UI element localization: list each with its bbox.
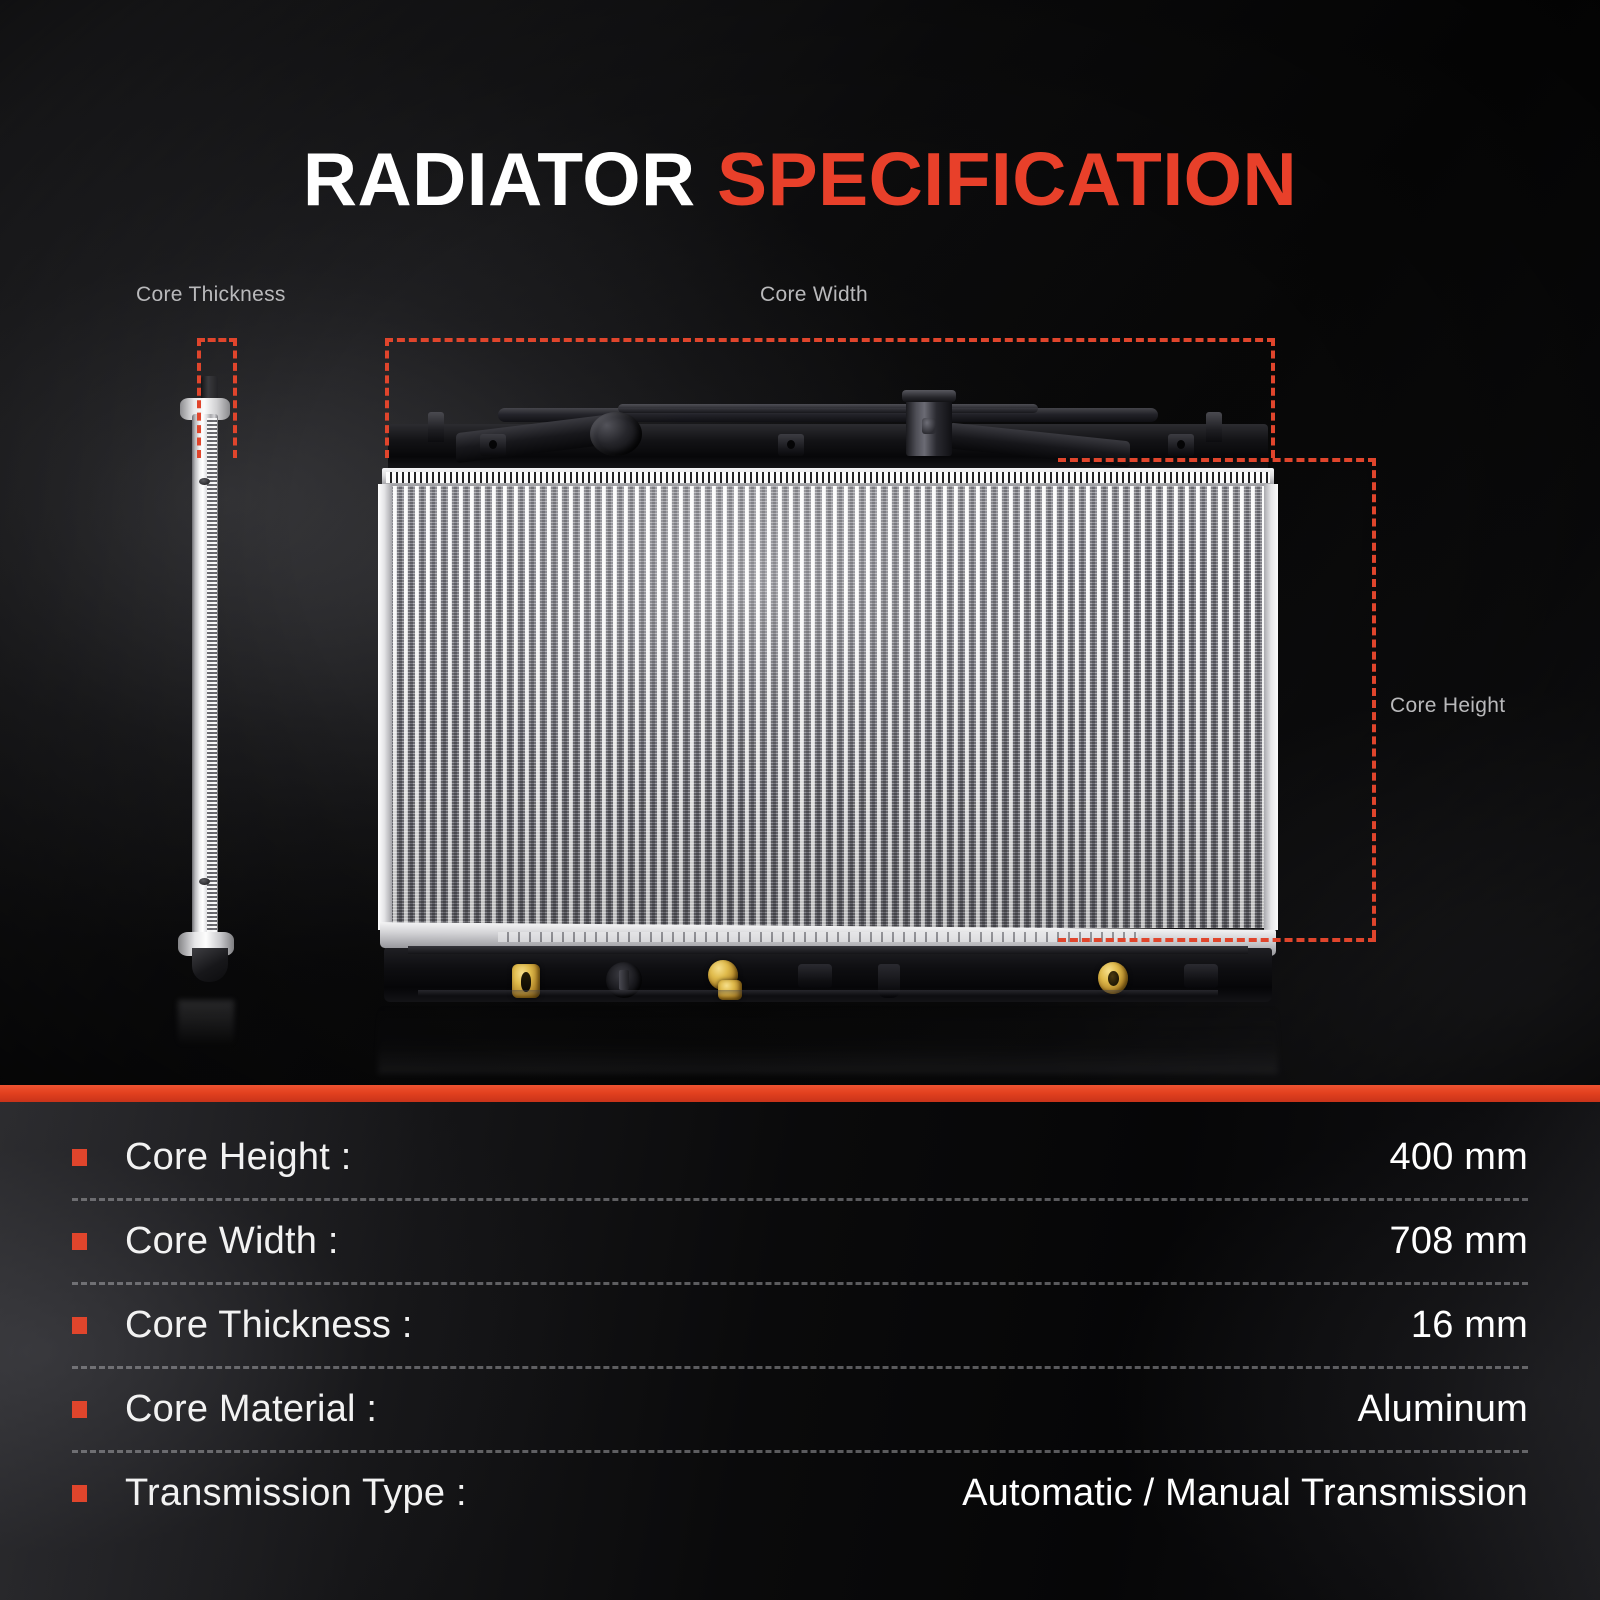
width-measure-line-left (385, 338, 389, 458)
bullet-square-icon (72, 1149, 87, 1166)
bottom-tank-lip (408, 946, 1248, 954)
page-title: RADIATOR SPECIFICATION (0, 142, 1600, 217)
bottom-tank-seam (418, 990, 1218, 996)
page-title-part1: RADIATOR (303, 137, 696, 221)
radiator-filler-cap-top (902, 390, 956, 402)
section-divider-bar (0, 1085, 1600, 1102)
core-thickness-annotation-label: Core Thickness (136, 283, 286, 307)
bullet-square-icon (72, 1401, 87, 1418)
hero-section: RADIATOR SPECIFICATION Core Thickness Co… (0, 0, 1600, 1085)
top-tank-ridge-highlight (618, 404, 1038, 413)
height-measure-line-right (1372, 458, 1376, 938)
mounting-bracket-left (428, 412, 444, 442)
radiator-surface-reflection (378, 1004, 1278, 1074)
radiator-filler-cap-knob (922, 418, 936, 434)
bullet-square-icon (72, 1485, 87, 1502)
radiator-front-view-image (378, 396, 1278, 1004)
spec-label-transmission-type: Transmission Type : (125, 1472, 467, 1515)
mounting-bracket-right (1206, 412, 1222, 442)
spec-value-transmission-type: Automatic / Manual Transmission (962, 1472, 1528, 1515)
core-side-frame-right (1264, 484, 1278, 930)
spec-row-separator-1 (72, 1282, 1528, 1285)
spec-row-separator-2 (72, 1366, 1528, 1369)
spec-row-separator-3 (72, 1450, 1528, 1453)
side-view-bottom-foot (192, 948, 228, 982)
spec-row-transmission-type: Transmission Type : Automatic / Manual T… (72, 1456, 1528, 1531)
radiator-specification-page: RADIATOR SPECIFICATION Core Thickness Co… (0, 0, 1600, 1600)
spec-value-core-thickness: 16 mm (1411, 1304, 1528, 1347)
spec-row-core-thickness: Core Thickness : 16 mm (72, 1288, 1528, 1363)
mounting-tab-3 (1168, 434, 1194, 456)
side-view-screw-top (199, 478, 210, 485)
mounting-tab-2 (778, 434, 804, 456)
bullet-square-icon (72, 1233, 87, 1250)
bullet-square-icon (72, 1317, 87, 1334)
height-measure-line-bottom (1058, 938, 1376, 942)
width-measure-line-right (1271, 338, 1275, 458)
thickness-measure-line-left (197, 338, 201, 458)
spec-value-core-height: 400 mm (1390, 1136, 1528, 1179)
spec-label-core-height: Core Height : (125, 1136, 351, 1179)
thickness-measure-line-top (197, 338, 237, 342)
core-fin-texture (382, 486, 1274, 928)
radiator-inlet-neck (590, 412, 642, 456)
radiator-side-view-image (178, 370, 234, 1000)
spec-label-core-material: Core Material : (125, 1388, 377, 1431)
width-measure-line-top (385, 338, 1275, 342)
mounting-tab-1 (480, 434, 506, 456)
spec-row-separator-0 (72, 1198, 1528, 1201)
spec-value-core-width: 708 mm (1390, 1220, 1528, 1263)
specification-table: Core Height : 400 mm Core Width : 708 mm… (0, 1102, 1600, 1600)
side-view-surface-reflection (178, 1000, 234, 1046)
side-view-screw-bottom (199, 878, 210, 885)
core-bottom-rail-teeth (498, 932, 1138, 942)
side-view-fin-stack (207, 418, 217, 958)
radiator-core-fins (382, 486, 1274, 928)
core-side-frame-left (378, 484, 392, 930)
core-width-annotation-label: Core Width (760, 283, 868, 307)
spec-label-core-width: Core Width : (125, 1220, 339, 1263)
bottom-mount-lug-3 (1184, 964, 1218, 988)
bottom-mount-lug-1 (798, 964, 832, 988)
spec-value-core-material: Aluminum (1357, 1388, 1528, 1431)
page-title-part2: SPECIFICATION (717, 137, 1297, 221)
height-measure-line-top (1058, 458, 1376, 462)
core-height-annotation-label: Core Height (1390, 694, 1505, 718)
core-top-rail-teeth (386, 472, 1270, 483)
spec-row-core-material: Core Material : Aluminum (72, 1372, 1528, 1447)
spec-row-core-width: Core Width : 708 mm (72, 1204, 1528, 1279)
spec-row-core-height: Core Height : 400 mm (72, 1120, 1528, 1195)
spec-label-core-thickness: Core Thickness : (125, 1304, 413, 1347)
thickness-measure-line-right (233, 338, 237, 458)
